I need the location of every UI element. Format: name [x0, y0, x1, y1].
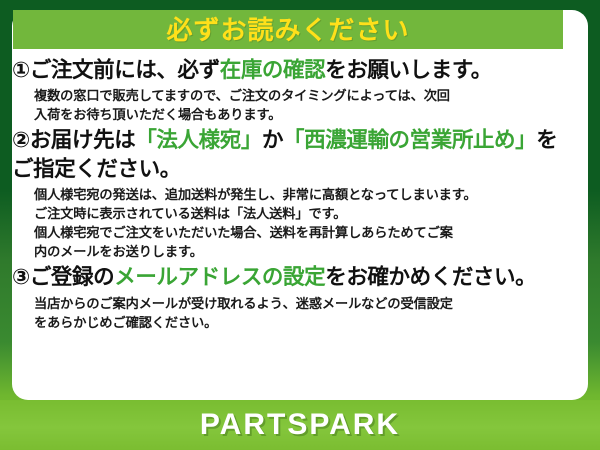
notice-card: 必ずお読みください ①ご注文前には、必ず在庫の確認をお願いします。複数の窓口で販… — [0, 0, 600, 450]
brand-logo-text: PARTSPARK — [200, 410, 400, 440]
notice-item-marker: ③ — [12, 265, 30, 289]
heading-text: ご注文前には、必ず — [30, 58, 220, 82]
heading-highlight: 「西濃運輸の営業所止め」 — [283, 128, 536, 152]
heading-text: か — [262, 128, 283, 152]
notice-item-marker: ② — [12, 128, 30, 152]
heading-text: お届け先は — [30, 128, 136, 152]
heading-highlight: 「法人様宛」 — [135, 128, 262, 152]
notice-item: ②お届け先は「法人様宛」か「西濃運輸の営業所止め」をご指定ください。個人様宅宛の… — [12, 126, 566, 261]
notice-item-body: 当店からのご案内メールが受け取れるよう、迷惑メールなどの受信設定 をあらかじめご… — [34, 294, 566, 332]
heading-highlight: 在庫の確認 — [220, 58, 326, 82]
notice-item: ①ご注文前には、必ず在庫の確認をお願いします。複数の窓口で販売してますので、ご注… — [12, 56, 566, 124]
heading-highlight: メールアドレスの設定 — [114, 265, 325, 289]
header-banner: 必ずお読みください — [13, 10, 563, 49]
notice-list: ①ご注文前には、必ず在庫の確認をお願いします。複数の窓口で販売してますので、ご注… — [0, 56, 576, 334]
notice-item-heading: ①ご注文前には、必ず在庫の確認をお願いします。 — [12, 56, 566, 84]
notice-item-body: 個人様宅宛の発送は、追加送料が発生し、非常に高額となってしまいます。 ご注文時に… — [34, 185, 566, 261]
heading-text: をお願いします。 — [325, 58, 492, 82]
heading-text: ご登録の — [30, 265, 114, 289]
notice-item-heading: ②お届け先は「法人様宛」か「西濃運輸の営業所止め」をご指定ください。 — [12, 126, 566, 183]
footer-brand-band: PARTSPARK — [0, 400, 600, 450]
notice-item-body: 複数の窓口で販売してますので、ご注文のタイミングによっては、次回 入荷をお待ち頂… — [34, 86, 566, 124]
notice-item: ③ご登録のメールアドレスの設定をお確かめください。当店からのご案内メールが受け取… — [12, 263, 566, 331]
heading-text: をお確かめください。 — [325, 265, 536, 289]
notice-item-marker: ① — [12, 58, 30, 82]
page-title: 必ずお読みください — [166, 17, 409, 43]
notice-item-heading: ③ご登録のメールアドレスの設定をお確かめください。 — [12, 263, 566, 291]
